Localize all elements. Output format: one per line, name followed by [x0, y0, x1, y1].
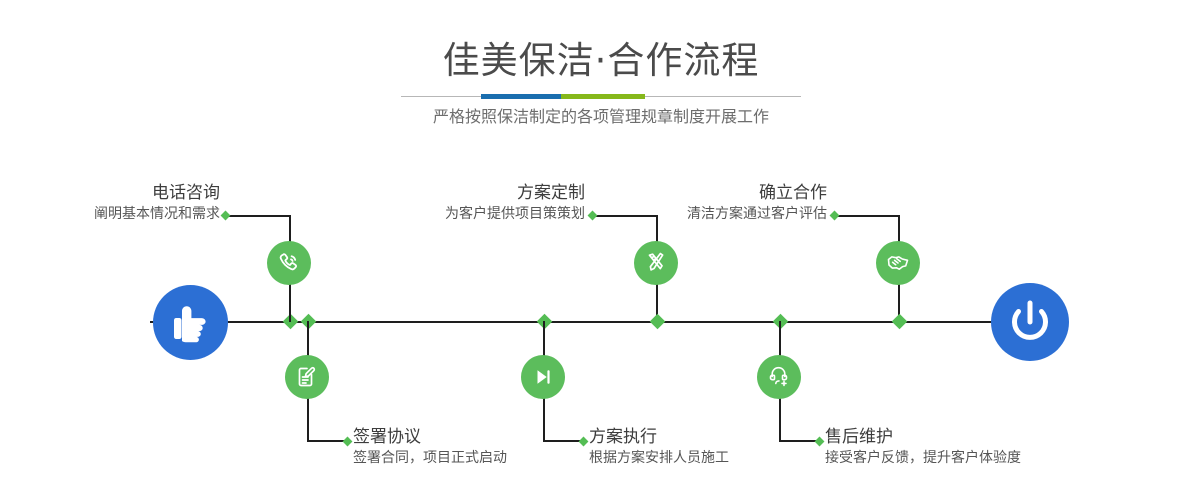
start-node-pointing-hand[interactable]: [153, 285, 228, 360]
branch-dot-2: [343, 437, 353, 447]
branch-dot-5: [830, 211, 840, 221]
step-3-icon-circle[interactable]: [634, 241, 678, 285]
step-4-title: 方案执行: [589, 426, 819, 448]
step-2-desc: 签署合同，项目正式启动: [353, 448, 583, 469]
title-divider: [401, 94, 801, 100]
step-6-desc: 接受客户反馈，提升客户体验度: [825, 448, 1075, 469]
page-title: 佳美保洁·合作流程: [0, 38, 1202, 84]
step-5-desc: 清洁方案通过客户评估: [637, 204, 827, 225]
step-1-label: 电话咨询 阐明基本情况和需求: [30, 182, 220, 225]
branch-dot-1: [221, 211, 231, 221]
step-6-title: 售后维护: [825, 426, 1075, 448]
header: 佳美保洁·合作流程 严格按照保洁制定的各项管理规章制度开展工作: [0, 0, 1202, 150]
divider-blue-segment: [481, 94, 561, 99]
step-6-label: 售后维护 接受客户反馈，提升客户体验度: [825, 426, 1075, 469]
step-5-title: 确立合作: [637, 182, 827, 204]
step-3-desc: 为客户提供项目策策划: [395, 204, 585, 225]
step-2-label: 签署协议 签署合同，项目正式启动: [353, 426, 583, 469]
phone-call-icon: [276, 250, 302, 276]
document-edit-icon: [294, 364, 320, 390]
step-1-title: 电话咨询: [30, 182, 220, 204]
branch-line-4-horizontal: [543, 440, 581, 442]
step-1-icon-circle[interactable]: [267, 241, 311, 285]
end-node-power[interactable]: [991, 283, 1069, 361]
step-3-label: 方案定制 为客户提供项目策策划: [395, 182, 585, 225]
step-4-icon-circle[interactable]: [521, 355, 565, 399]
axis-node-5b: [892, 314, 908, 330]
flow-diagram: 电话咨询 阐明基本情况和需求 签署协议: [0, 150, 1202, 502]
branch-line-2-horizontal: [307, 440, 345, 442]
step-6-icon-circle[interactable]: [757, 355, 801, 399]
pen-ruler-icon: [643, 250, 669, 276]
divider-green-segment: [561, 94, 645, 99]
branch-line-5-horizontal: [838, 215, 900, 217]
branch-line-6-horizontal: [779, 440, 817, 442]
play-skip-icon: [530, 364, 556, 390]
step-5-icon-circle[interactable]: [876, 241, 920, 285]
branch-line-1-horizontal: [229, 215, 291, 217]
step-1-desc: 阐明基本情况和需求: [30, 204, 220, 225]
step-2-title: 签署协议: [353, 426, 583, 448]
step-4-label: 方案执行 根据方案安排人员施工: [589, 426, 819, 469]
process-flow-infographic: 佳美保洁·合作流程 严格按照保洁制定的各项管理规章制度开展工作: [0, 0, 1202, 502]
step-2-icon-circle[interactable]: [285, 355, 329, 399]
page-subtitle: 严格按照保洁制定的各项管理规章制度开展工作: [0, 105, 1202, 129]
handshake-icon: [885, 250, 911, 276]
step-5-label: 确立合作 清洁方案通过客户评估: [637, 182, 827, 225]
customer-support-icon: [766, 364, 792, 390]
branch-dot-3: [588, 211, 598, 221]
step-3-title: 方案定制: [395, 182, 585, 204]
step-4-desc: 根据方案安排人员施工: [589, 448, 819, 469]
axis-node-3b: [650, 314, 666, 330]
